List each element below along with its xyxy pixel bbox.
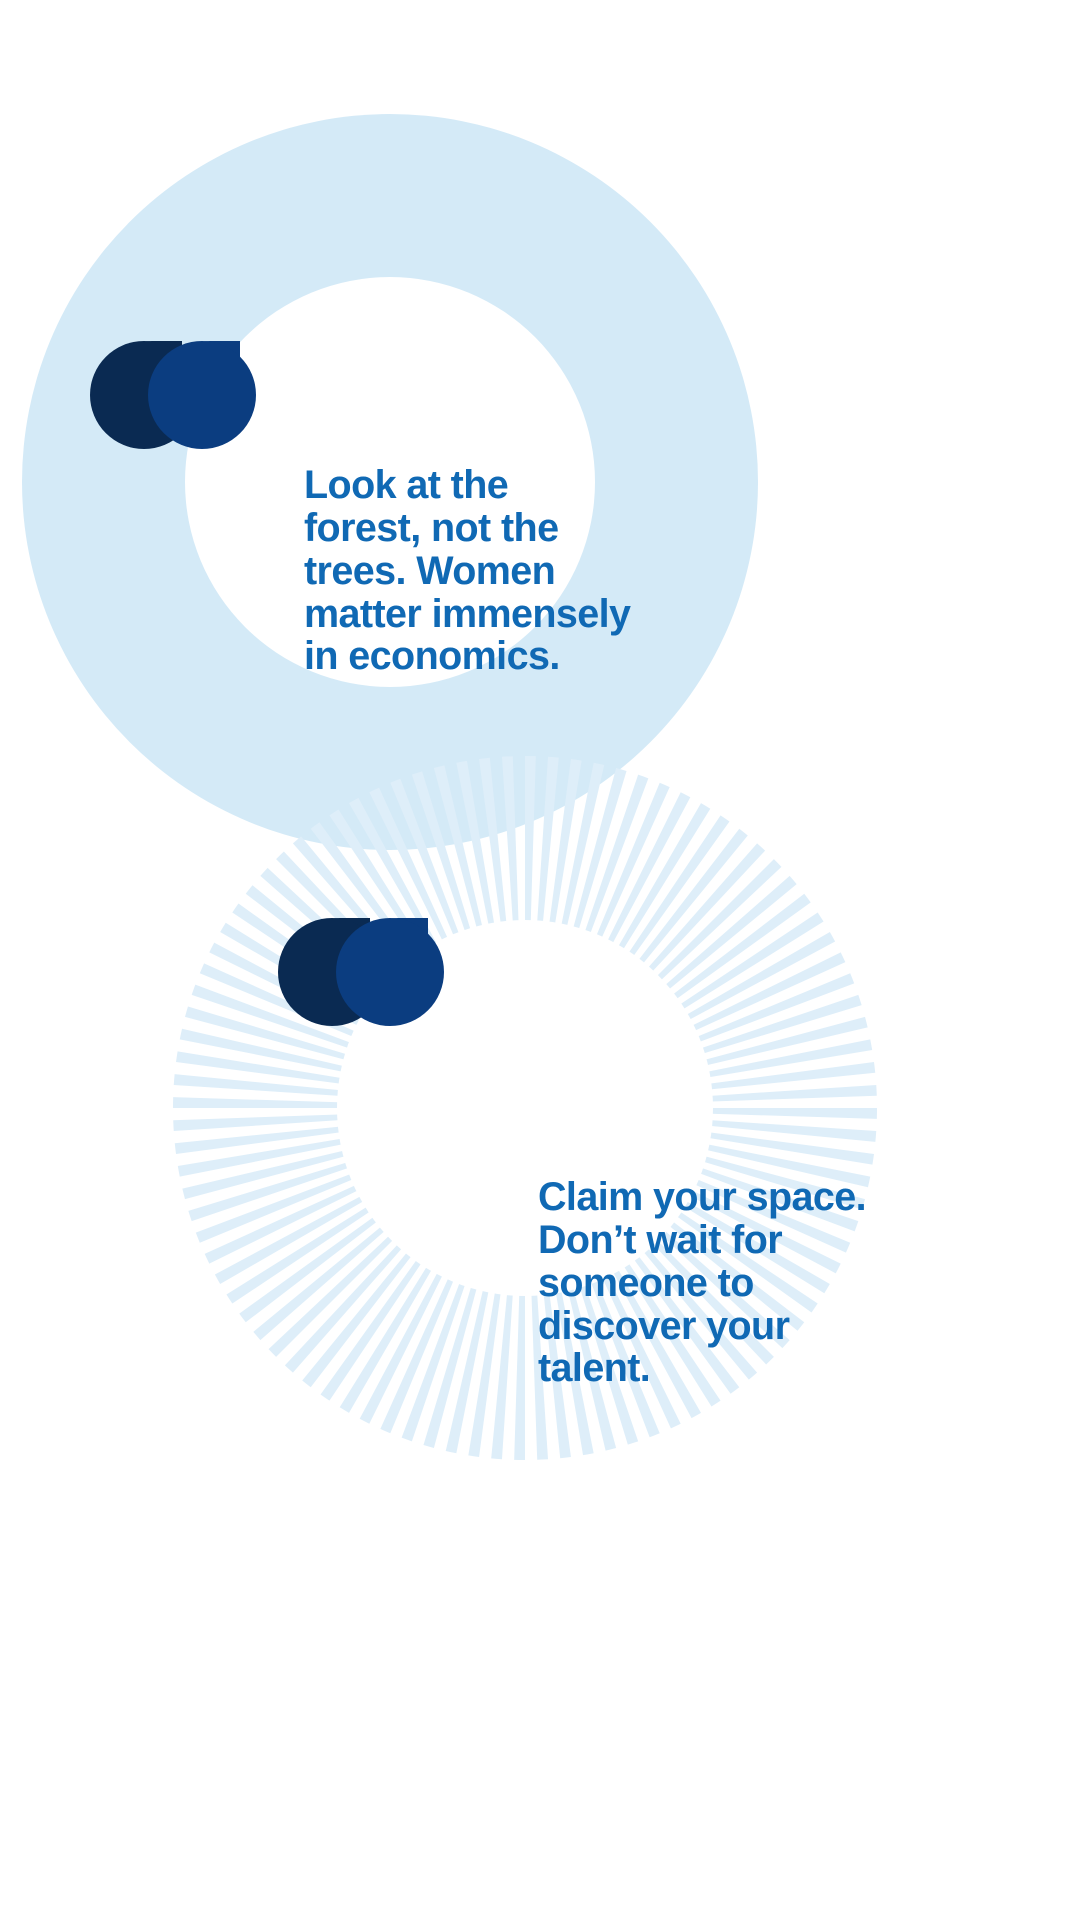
quote-glyph-light — [336, 918, 444, 1026]
quote-text-2: Claim your space. Don’t wait for someone… — [538, 1176, 938, 1390]
quote-glyph-light — [148, 341, 256, 449]
quotation-mark-icon — [278, 918, 444, 1026]
poster-canvas: Look at the forest, not the trees. Women… — [0, 0, 1080, 1920]
decorative-graphics — [0, 0, 1080, 1920]
quote-text-1: Look at the forest, not the trees. Women… — [304, 464, 704, 678]
quotation-mark-icon — [90, 341, 256, 449]
